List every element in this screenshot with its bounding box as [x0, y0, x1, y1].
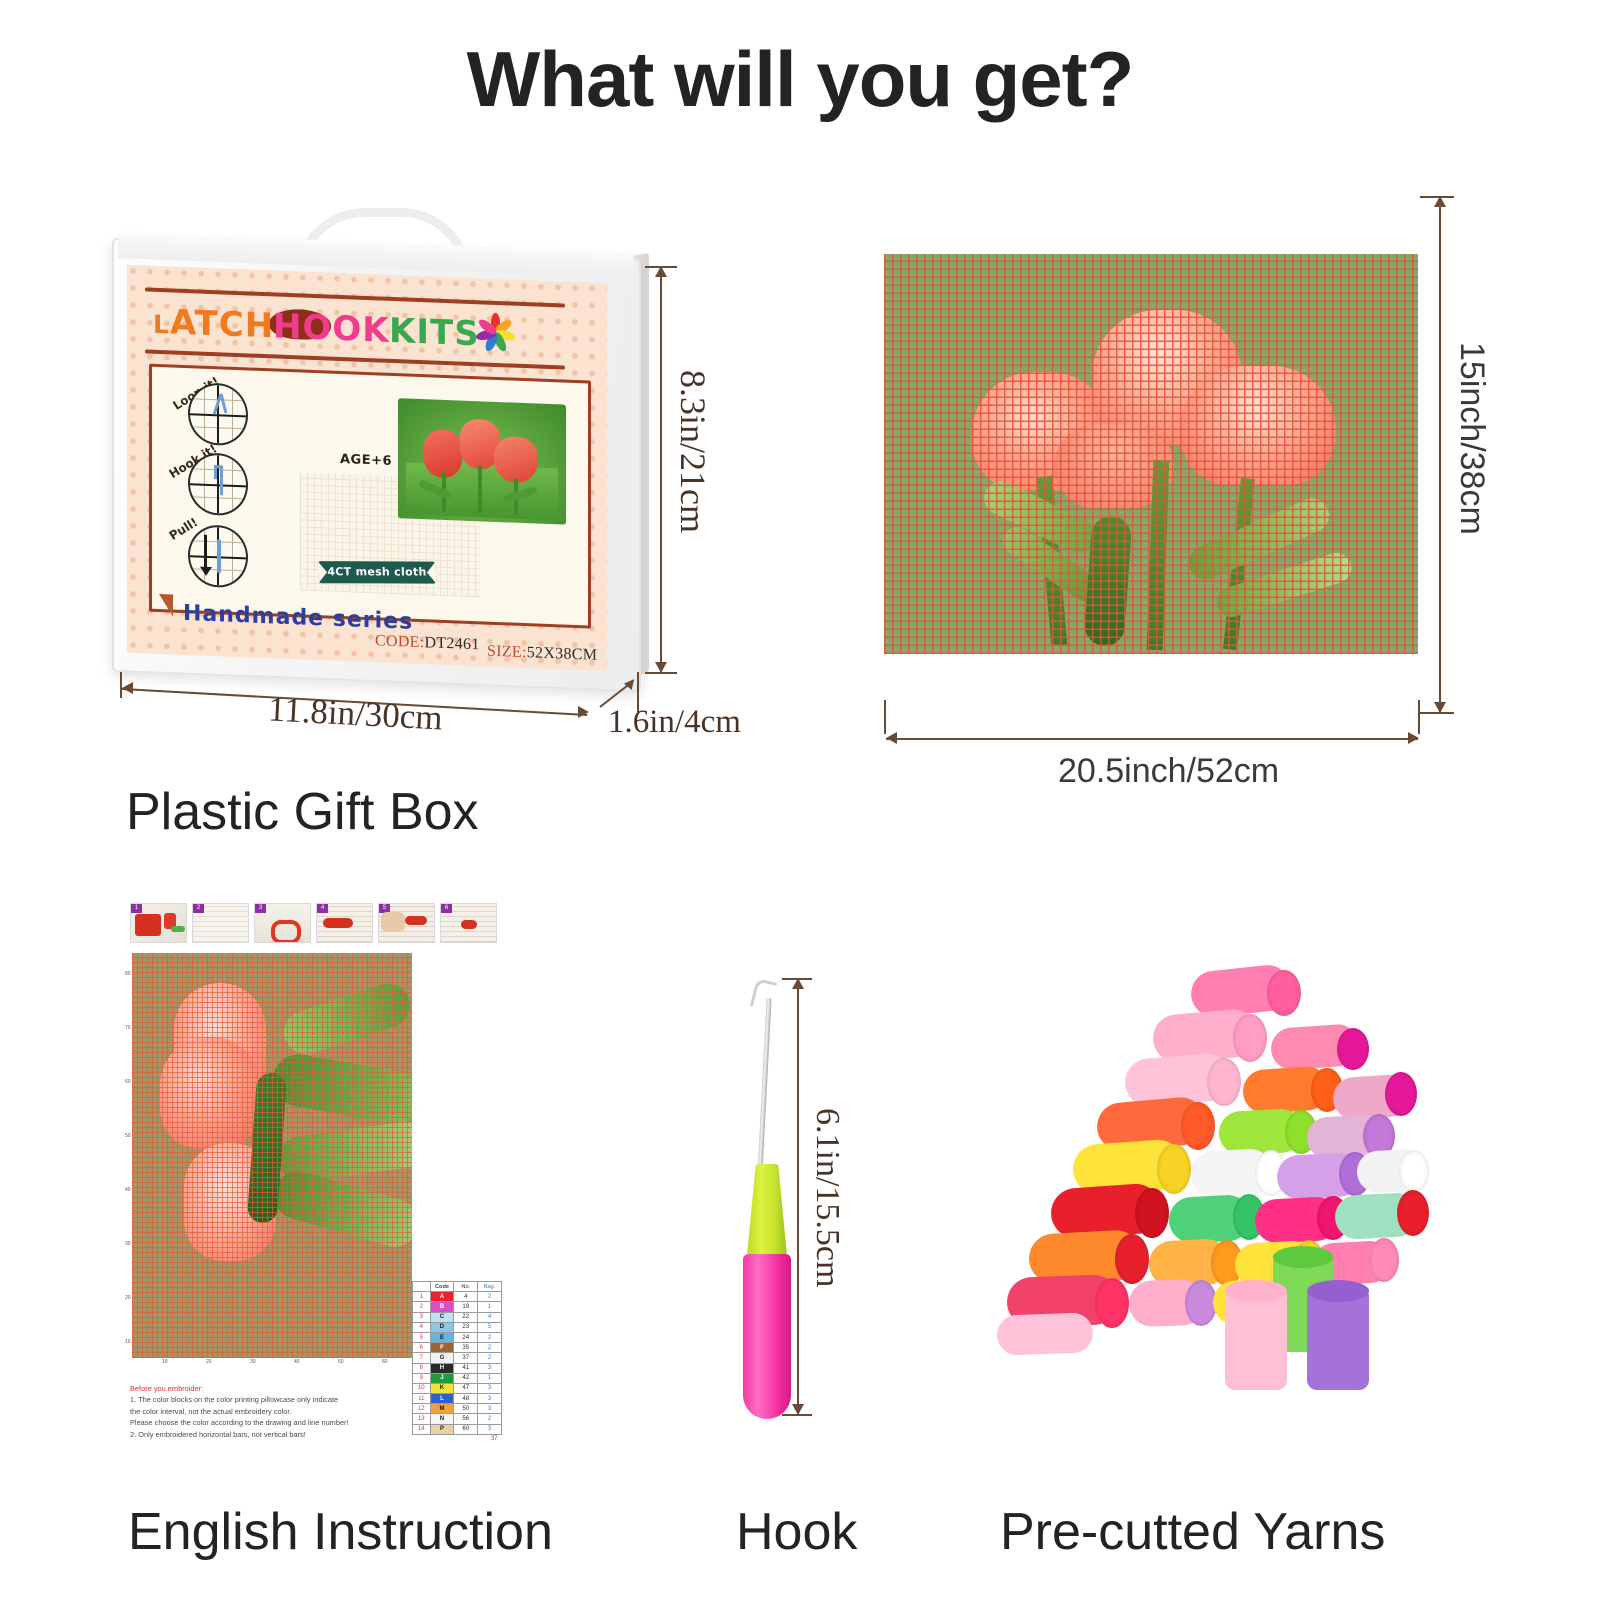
yarn-end	[1369, 1238, 1399, 1282]
yarn-end	[1267, 970, 1301, 1016]
legend-header-bag: Bag.	[478, 1282, 502, 1292]
legend-row-index: 6	[413, 1343, 431, 1353]
legend-row-index: 5	[413, 1332, 431, 1342]
legend-row-bag: 3	[478, 1424, 502, 1434]
legend-row-no: 37	[454, 1353, 478, 1363]
yarn-end	[1385, 1072, 1417, 1116]
yarn-piece	[996, 1312, 1093, 1355]
size-key: SIZE:	[487, 643, 527, 662]
legend-row-bag: 4	[478, 1312, 502, 1322]
yarn-bundle-top	[1225, 1280, 1287, 1302]
legend-row-no: 4	[454, 1292, 478, 1302]
legend-row-index: 2	[413, 1302, 431, 1312]
legend-row-bag: 2	[478, 1292, 502, 1302]
legend-row-code: P	[430, 1424, 454, 1434]
yarn-end	[1399, 1150, 1429, 1192]
thumb-badge: 6	[441, 904, 452, 913]
age-note: AGE+6 !	[340, 452, 404, 469]
legend-row-bag: 1	[478, 1302, 502, 1312]
legend-row-code: G	[430, 1353, 454, 1363]
legend-row-index: 13	[413, 1414, 431, 1424]
pre-cut-yarns-figure	[985, 950, 1455, 1420]
legend-row: 12M503	[413, 1404, 502, 1414]
legend-row-index: 7	[413, 1353, 431, 1363]
english-instruction-figure: 1 2 3 4 5 6	[126, 903, 506, 1463]
legend-total: 37	[413, 1434, 502, 1444]
box-width-label: 11.8in/30cm	[267, 689, 444, 738]
note-line: 1. The color blocks on the color printin…	[130, 1394, 400, 1405]
chart-ruler-left: 807060 504030 2010	[125, 953, 132, 1358]
chart-ruler-bottom: 102030 405060	[132, 1359, 412, 1367]
handmade-flag-icon	[145, 593, 173, 616]
yarn-end	[1337, 1028, 1369, 1070]
step-thumbnail: 3	[254, 903, 311, 943]
legend-row: 2B191	[413, 1302, 502, 1312]
page-title: What will you get?	[0, 34, 1600, 125]
legend-row-bag: 3	[478, 1404, 502, 1414]
legend-row-no: 42	[454, 1373, 478, 1383]
legend-row-bag: 3	[478, 1383, 502, 1393]
yarn-bundle	[1307, 1290, 1369, 1390]
legend-row-bag: 2	[478, 1343, 502, 1353]
legend-row: 10K473	[413, 1383, 502, 1393]
yarn-bundle-top	[1307, 1280, 1369, 1302]
before-you-embroider-note: Before you embroider: 1. The color block…	[130, 1383, 400, 1440]
caption-pre-cutted-yarns: Pre-cutted Yarns	[1000, 1502, 1385, 1562]
note-line: Please choose the color according to the…	[130, 1417, 400, 1428]
legend-row: 7G372	[413, 1353, 502, 1363]
legend-row-code: N	[430, 1414, 454, 1424]
box-depth-label: 1.6in/4cm	[608, 704, 741, 741]
legend-row-code: B	[430, 1302, 454, 1312]
step-thumbnail: 5	[378, 903, 435, 943]
canvas-width-label: 20.5inch/52cm	[1058, 752, 1279, 791]
mesh-canvas	[884, 254, 1418, 654]
yarn-end	[1115, 1234, 1149, 1284]
legend-row-code: C	[430, 1312, 454, 1322]
legend-row-index: 4	[413, 1322, 431, 1332]
legend-row-no: 41	[454, 1363, 478, 1373]
instruction-panel: Loop it! Hook it! Pull!	[149, 364, 591, 629]
legend-row: 13N562	[413, 1414, 502, 1424]
step-diagram-loop	[188, 382, 248, 446]
gift-box-figure: LLatchATCH HOOK KITS Loop it!	[112, 196, 657, 696]
legend-row-no: 35	[454, 1343, 478, 1353]
legend-row-bag: 3	[478, 1394, 502, 1404]
legend-row: 4D235	[413, 1322, 502, 1332]
legend-row-code: H	[430, 1363, 454, 1373]
step-thumbnail-strip: 1 2 3 4 5 6	[130, 903, 497, 943]
legend-row-bag: 3	[478, 1363, 502, 1373]
brand-word-latch: LLatchATCH	[153, 302, 274, 347]
note-line: the color interval, not the actual embro…	[130, 1406, 400, 1417]
legend-row-index: 9	[413, 1373, 431, 1383]
legend-row: 5E242	[413, 1332, 502, 1342]
hook-needle	[757, 998, 771, 1173]
legend-row-index: 14	[413, 1424, 431, 1434]
legend-header-no: No.	[454, 1282, 478, 1292]
yarn-end	[1135, 1188, 1169, 1238]
legend-row-no: 23	[454, 1322, 478, 1332]
legend-row-code: J	[430, 1373, 454, 1383]
legend-row-code: E	[430, 1332, 454, 1342]
size-line: SIZE:52X38CM	[487, 643, 597, 665]
thumb-badge: 3	[255, 904, 266, 913]
legend-row-no: 50	[454, 1404, 478, 1414]
caption-plastic-gift-box: Plastic Gift Box	[126, 782, 479, 842]
legend-row: 1A42	[413, 1292, 502, 1302]
pinwheel-icon	[469, 306, 527, 366]
legend-row-index: 12	[413, 1404, 431, 1414]
legend-header-code: Code	[430, 1282, 454, 1292]
hook-length-label: 6.1in/15.5cm	[808, 1108, 846, 1287]
yarn-end	[1233, 1014, 1267, 1062]
code-value: DT2461	[425, 634, 480, 653]
legend-row-code: M	[430, 1404, 454, 1414]
legend-row-index: 8	[413, 1363, 431, 1373]
hook-tip-icon	[750, 978, 777, 1011]
legend-row-code: D	[430, 1322, 454, 1332]
legend-row-no: 47	[454, 1383, 478, 1393]
yarn-bundle	[1225, 1290, 1287, 1390]
legend-total-row: 37	[413, 1434, 502, 1444]
legend-row-code: K	[430, 1383, 454, 1393]
legend-row-bag: 1	[478, 1373, 502, 1383]
step-diagram-pull	[188, 524, 248, 588]
legend-row: 6F352	[413, 1343, 502, 1353]
mesh-canvas-figure	[884, 254, 1418, 654]
yarn-end	[1181, 1102, 1215, 1150]
legend-row-index: 10	[413, 1383, 431, 1393]
legend-row-bag: 5	[478, 1322, 502, 1332]
legend-row-no: 22	[454, 1312, 478, 1322]
chart-grid-overlay	[132, 953, 412, 1358]
mesh-ribbon: 4CT mesh cloth	[318, 561, 437, 583]
legend-row-code: A	[430, 1292, 454, 1302]
caption-hook: Hook	[736, 1502, 857, 1562]
legend-row-index: 1	[413, 1292, 431, 1302]
hook-handle-lower	[743, 1254, 791, 1419]
legend-row-bag: 2	[478, 1414, 502, 1424]
legend-row-no: 48	[454, 1394, 478, 1404]
series-mark: ''	[337, 613, 342, 627]
yarn-end	[1207, 1058, 1241, 1106]
thumb-badge: 1	[131, 904, 142, 913]
color-legend-table: Code No. Bag. 1A422B1913C2244D2355E2426F…	[412, 1281, 502, 1444]
legend-row-no: 56	[454, 1414, 478, 1424]
legend-row-bag: 2	[478, 1332, 502, 1342]
thumb-badge: 2	[193, 904, 204, 913]
size-value: 52X38CM	[527, 644, 598, 664]
code-line: CODE:DT2461	[375, 632, 480, 654]
brand-word-kits: KITS	[389, 311, 480, 354]
legend-row-code: F	[430, 1343, 454, 1353]
yarn-bundle-top	[1273, 1246, 1333, 1268]
legend-row-no: 24	[454, 1332, 478, 1342]
code-key: CODE:	[375, 632, 425, 651]
step-thumbnail: 6	[440, 903, 497, 943]
step-thumbnail: 4	[316, 903, 373, 943]
yarn-end	[1157, 1144, 1191, 1194]
box-height-label: 8.3in/21cm	[672, 370, 714, 533]
legend-row: 11L483	[413, 1394, 502, 1404]
step-thumbnail: 1	[130, 903, 187, 943]
tulip-product-photo	[398, 398, 566, 524]
legend-row-bag: 2	[478, 1353, 502, 1363]
note-line: 2. Only embroidered horizontal bars, not…	[130, 1429, 400, 1440]
caption-english-instruction: English Instruction	[128, 1502, 553, 1562]
legend-row: 14P603	[413, 1424, 502, 1434]
legend-row-no: 60	[454, 1424, 478, 1434]
yarn-end	[1397, 1190, 1429, 1236]
yarn-end	[1095, 1278, 1129, 1328]
legend-row-index: 3	[413, 1312, 431, 1322]
hook-handle-upper	[747, 1164, 787, 1256]
legend-header-row: Code No. Bag.	[413, 1282, 502, 1292]
note-heading: Before you embroider:	[130, 1383, 400, 1394]
legend-row: 3C224	[413, 1312, 502, 1322]
canvas-height-label: 15inch/38cm	[1452, 342, 1491, 535]
pattern-chart	[132, 953, 412, 1358]
step-diagram-hook	[188, 452, 248, 516]
legend-row-index: 11	[413, 1394, 431, 1404]
legend-header-idx	[413, 1282, 431, 1292]
legend-row: 8H413	[413, 1363, 502, 1373]
brand-word-hook: HOOK	[273, 306, 390, 350]
step-thumbnail: 2	[192, 903, 249, 943]
box-printed-card: LLatchATCH HOOK KITS Loop it!	[127, 265, 607, 671]
legend-row-code: L	[430, 1394, 454, 1404]
legend-row: 9J421	[413, 1373, 502, 1383]
legend-row-no: 19	[454, 1302, 478, 1312]
thumb-badge: 4	[317, 904, 328, 913]
